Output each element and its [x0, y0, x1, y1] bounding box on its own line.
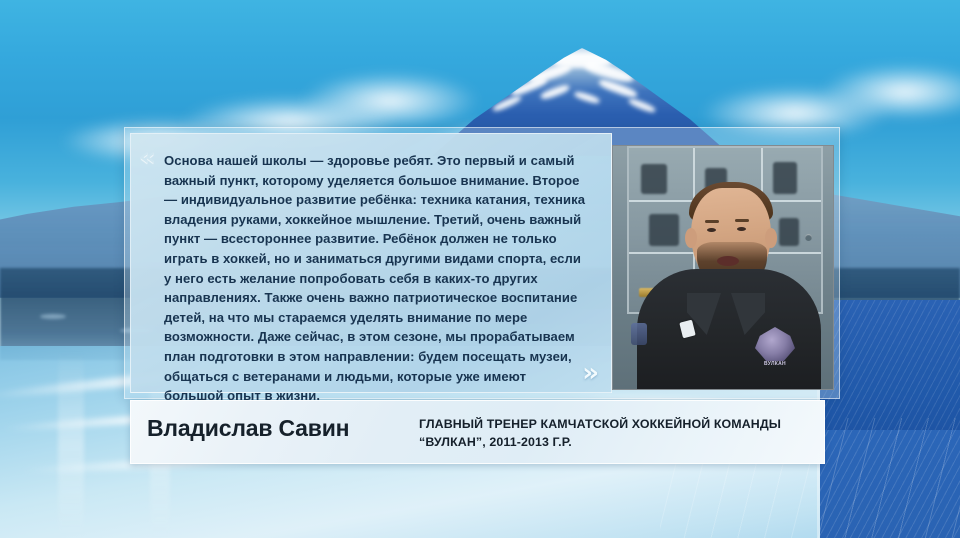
broadcast-frame: « Основа нашей школы — здоровье ребят. Э…: [0, 0, 960, 538]
subject-mouth: [717, 256, 739, 266]
video-inset[interactable]: ВУЛКАН: [612, 145, 834, 390]
open-quote-icon: «: [139, 144, 156, 170]
subject-ear-left: [685, 228, 697, 248]
name-bar: Владислав Савин ГЛАВНЫЙ ТРЕНЕР КАМЧАТСКО…: [130, 400, 825, 464]
team-logo-label: ВУЛКАН: [753, 361, 797, 367]
speaker-name: Владислав Савин: [147, 415, 415, 442]
speaker-title: ГЛАВНЫЙ ТРЕНЕР КАМЧАТСКОЙ ХОККЕЙНОЙ КОМА…: [419, 416, 809, 451]
light-column: [58, 352, 84, 538]
sleeve-badge: [631, 323, 647, 345]
subject-torso: [637, 269, 821, 390]
subject-brow-left: [705, 220, 719, 223]
subject-eye-right: [737, 227, 746, 231]
subject-ear-right: [765, 228, 777, 248]
quote-text: Основа нашей школы — здоровье ребят. Это…: [164, 151, 588, 406]
subject-eye-left: [707, 228, 716, 232]
subject-brow-right: [735, 219, 749, 222]
close-quote-icon: »: [582, 360, 599, 386]
quote-panel: « Основа нашей школы — здоровье ребят. Э…: [130, 133, 612, 393]
